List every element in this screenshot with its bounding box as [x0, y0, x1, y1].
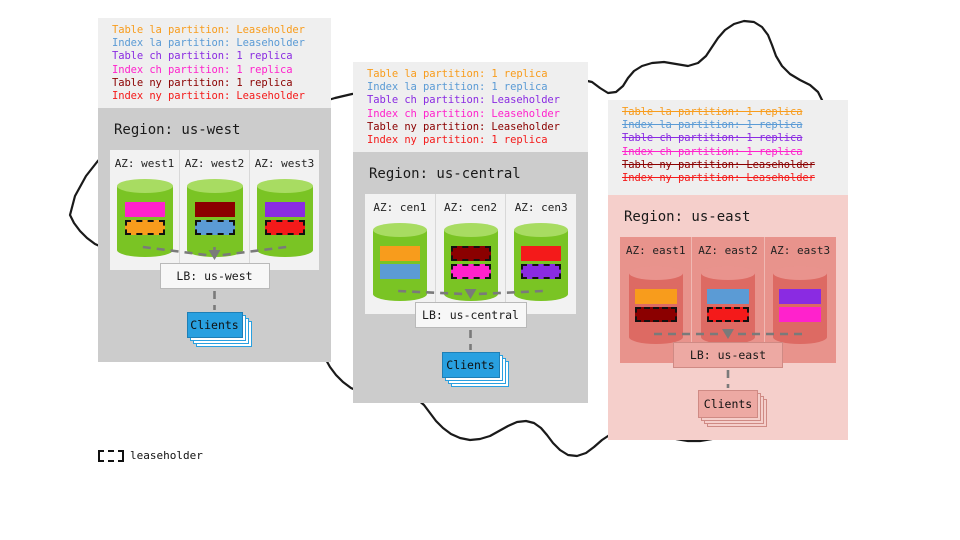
partition-summary-us-east: Table la partition: 1 replicaIndex la pa…	[608, 100, 848, 195]
replica-stack	[514, 223, 568, 301]
az-label: AZ: cen1	[373, 201, 426, 214]
load-balancer-us-central[interactable]: LB: us-central	[415, 302, 527, 328]
replica-chunk-leaseholder	[521, 264, 561, 279]
partition-line: Table ch partition: 1 replica	[622, 132, 838, 145]
partition-line: Index ny partition: Leaseholder	[622, 172, 838, 185]
replica-stack	[444, 223, 498, 301]
replica-stack	[701, 266, 755, 344]
az-label: AZ: east2	[698, 244, 758, 257]
partition-line: Table la partition: 1 replica	[622, 106, 838, 119]
partition-line: Index ny partition: 1 replica	[367, 134, 578, 147]
partition-line: Table la partition: 1 replica	[367, 68, 578, 81]
az-cell-cen3[interactable]: AZ: cen3	[505, 194, 576, 314]
partition-line: Table ch partition: 1 replica	[112, 50, 321, 63]
replica-chunk-leaseholder	[451, 246, 491, 261]
replica-stack	[373, 223, 427, 301]
partition-summary-us-central: Table la partition: 1 replicaIndex la pa…	[353, 62, 588, 152]
replica-chunk-leaseholder	[707, 307, 749, 322]
partition-line: Index ch partition: 1 replica	[622, 146, 838, 159]
replica-chunk	[265, 202, 305, 217]
partition-line: Index la partition: 1 replica	[367, 81, 578, 94]
clients-box[interactable]: Clients	[442, 352, 500, 378]
replica-chunk	[380, 264, 420, 279]
database-cylinder-icon[interactable]	[373, 223, 427, 301]
partition-line: Index ny partition: Leaseholder	[112, 90, 321, 103]
az-strip-us-west: AZ: west1AZ: west2AZ: west3	[110, 150, 319, 270]
replica-chunk	[521, 246, 561, 261]
database-cylinder-icon[interactable]	[514, 223, 568, 301]
diagram-root: Table la partition: LeaseholderIndex la …	[0, 0, 960, 540]
az-cell-cen1[interactable]: AZ: cen1	[365, 194, 435, 314]
az-cell-west1[interactable]: AZ: west1	[110, 150, 179, 270]
az-cell-west2[interactable]: AZ: west2	[179, 150, 249, 270]
replica-chunk	[380, 246, 420, 261]
replica-chunk	[125, 202, 165, 217]
dashed-rectangle-icon	[98, 450, 124, 462]
replica-chunk	[195, 202, 235, 217]
replica-stack	[117, 179, 173, 257]
partition-line: Table ny partition: Leaseholder	[367, 121, 578, 134]
partition-line: Table ny partition: 1 replica	[112, 77, 321, 90]
partition-line: Index la partition: Leaseholder	[112, 37, 321, 50]
database-cylinder-icon[interactable]	[187, 179, 243, 257]
partition-line: Table la partition: Leaseholder	[112, 24, 321, 37]
partition-line: Table ny partition: Leaseholder	[622, 159, 838, 172]
leaseholder-legend: leaseholder	[98, 449, 203, 462]
az-label: AZ: east1	[626, 244, 686, 257]
database-cylinder-icon[interactable]	[701, 266, 755, 344]
az-cell-west3[interactable]: AZ: west3	[249, 150, 319, 270]
replica-chunk	[779, 307, 821, 322]
replica-chunk	[707, 289, 749, 304]
az-label: AZ: cen2	[444, 201, 497, 214]
database-cylinder-icon[interactable]	[773, 266, 827, 344]
az-label: AZ: east3	[771, 244, 831, 257]
replica-chunk-leaseholder	[635, 307, 677, 322]
partition-line: Index ch partition: Leaseholder	[367, 108, 578, 121]
load-balancer-us-west[interactable]: LB: us-west	[160, 263, 270, 289]
region-title-us-central: Region: us-central	[369, 166, 576, 182]
legend-label: leaseholder	[130, 449, 203, 462]
replica-stack	[187, 179, 243, 257]
clients-us-central[interactable]: Clients	[442, 352, 510, 388]
clients-box[interactable]: Clients	[187, 312, 243, 338]
load-balancer-us-east[interactable]: LB: us-east	[673, 342, 783, 368]
az-label: AZ: west2	[185, 157, 245, 170]
database-cylinder-icon[interactable]	[629, 266, 683, 344]
clients-us-west[interactable]: Clients	[187, 312, 253, 348]
az-label: AZ: west1	[115, 157, 175, 170]
database-cylinder-icon[interactable]	[257, 179, 313, 257]
partition-line: Table ch partition: Leaseholder	[367, 94, 578, 107]
clients-us-east[interactable]: Clients	[698, 390, 768, 428]
replica-chunk	[779, 289, 821, 304]
region-title-us-east: Region: us-east	[624, 209, 836, 225]
replica-stack	[773, 266, 827, 344]
clients-box[interactable]: Clients	[698, 390, 758, 418]
az-strip-us-central: AZ: cen1AZ: cen2AZ: cen3	[365, 194, 576, 314]
replica-stack	[257, 179, 313, 257]
replica-chunk	[635, 289, 677, 304]
partition-summary-us-west: Table la partition: LeaseholderIndex la …	[98, 18, 331, 108]
partition-line: Index ch partition: 1 replica	[112, 64, 321, 77]
database-cylinder-icon[interactable]	[117, 179, 173, 257]
partition-line: Index la partition: 1 replica	[622, 119, 838, 132]
az-label: AZ: west3	[255, 157, 315, 170]
replica-chunk-leaseholder	[195, 220, 235, 235]
az-label: AZ: cen3	[515, 201, 568, 214]
replica-chunk-leaseholder	[265, 220, 305, 235]
replica-stack	[629, 266, 683, 344]
replica-chunk-leaseholder	[451, 264, 491, 279]
az-cell-cen2[interactable]: AZ: cen2	[435, 194, 506, 314]
database-cylinder-icon[interactable]	[444, 223, 498, 301]
replica-chunk-leaseholder	[125, 220, 165, 235]
region-title-us-west: Region: us-west	[114, 122, 319, 138]
